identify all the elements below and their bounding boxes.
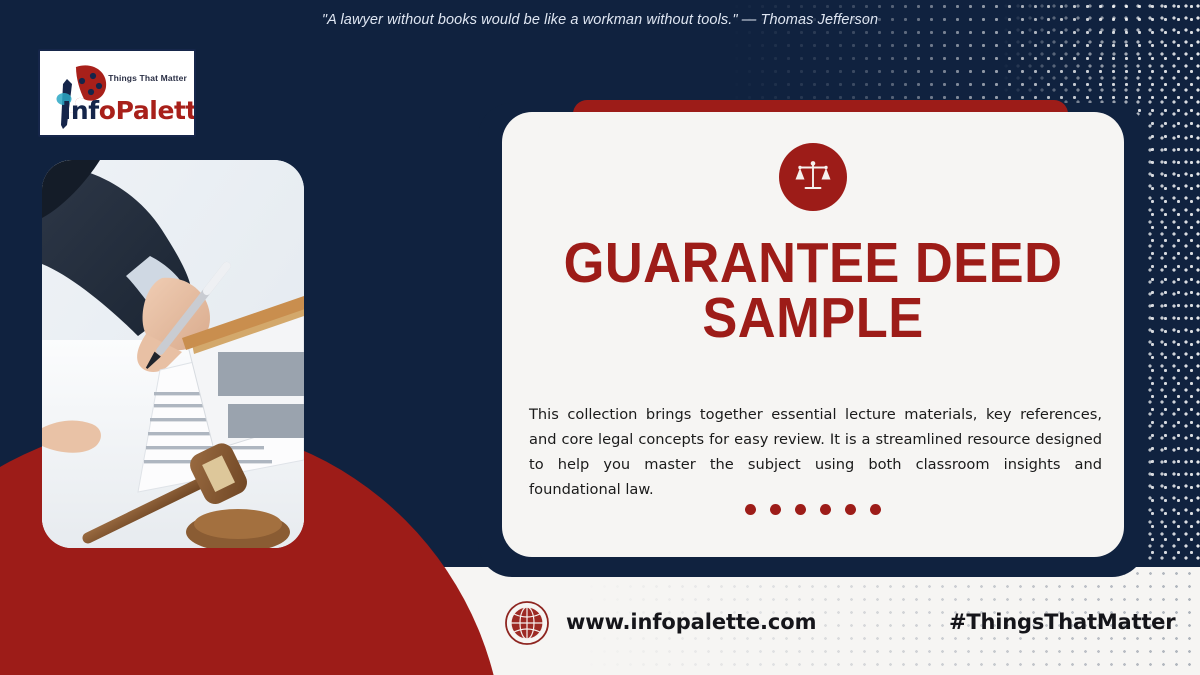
brand-logo[interactable]: Things That Matter InfoPalette [38, 49, 196, 137]
divider-dot [870, 504, 881, 515]
logo-wordmark: InfoPalette [62, 96, 196, 125]
logo-tagline: Things That Matter [108, 73, 187, 83]
lawyer-photo [42, 160, 304, 548]
scales-of-justice-icon [779, 143, 847, 211]
divider-dot [770, 504, 781, 515]
website-url[interactable]: www.infopalette.com [566, 610, 816, 634]
card-description: This collection brings together essentia… [529, 402, 1102, 502]
page-title: GUARANTEE DEED SAMPLE [553, 236, 1074, 345]
logo-word-part2: o [99, 96, 116, 125]
divider-dot [820, 504, 831, 515]
poster-stage: "A lawyer without books would be like a … [0, 0, 1200, 675]
hashtag-label: #ThingsThatMatter [949, 610, 1175, 634]
quote-text: "A lawyer without books would be like a … [0, 12, 1200, 28]
logo-word-part1: Inf [62, 96, 99, 125]
logo-word-part3: Palette [116, 96, 196, 125]
divider-dot [845, 504, 856, 515]
globe-icon [504, 600, 550, 646]
divider-dot [745, 504, 756, 515]
content-card: GUARANTEE DEED SAMPLE This collection br… [502, 112, 1124, 557]
divider-dot [795, 504, 806, 515]
dot-divider [502, 504, 1124, 515]
